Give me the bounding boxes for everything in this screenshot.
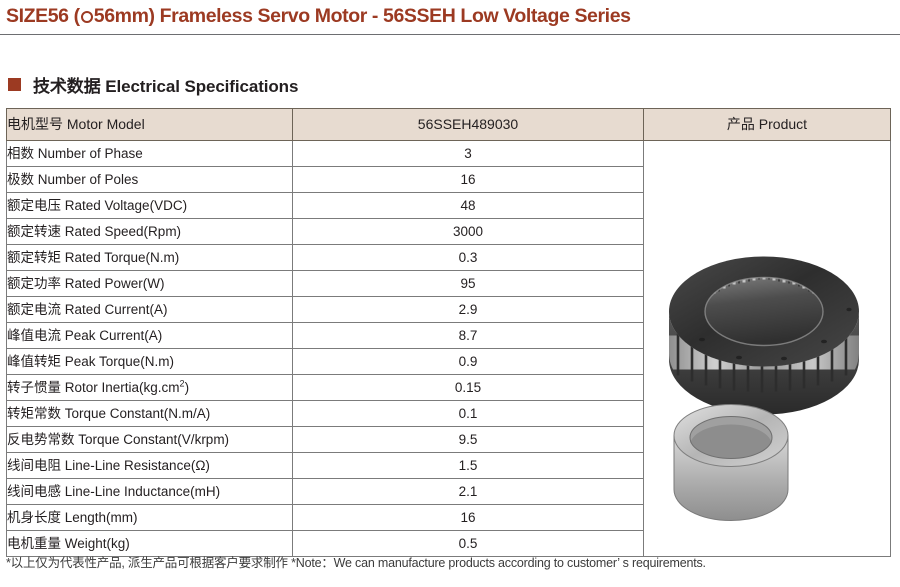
row-label: 相数 Number of Phase — [7, 141, 293, 167]
page-title: SIZE56 (56mm) Frameless Servo Motor - 56… — [6, 5, 631, 28]
section-header: 技术数据 Electrical Specifications — [8, 72, 298, 97]
row-label: 反电势常数 Torque Constant(V/krpm) — [7, 427, 293, 453]
row-value: 0.15 — [293, 375, 644, 401]
square-bullet-icon — [8, 78, 21, 91]
row-value: 8.7 — [293, 323, 644, 349]
row-label: 峰值电流 Peak Current(A) — [7, 323, 293, 349]
section-heading-label: 技术数据 Electrical Specifications — [33, 72, 298, 97]
row-value: 0.1 — [293, 401, 644, 427]
header-model-label: 电机型号 Motor Model — [7, 109, 293, 141]
row-label: 极数 Number of Poles — [7, 167, 293, 193]
page-title-prefix: SIZE56 ( — [6, 5, 80, 27]
title-divider — [0, 34, 900, 35]
row-label: 线间电阻 Line-Line Resistance(Ω) — [7, 453, 293, 479]
row-label-suffix: ) — [185, 380, 190, 395]
row-label: 机身长度 Length(mm) — [7, 505, 293, 531]
footnote: *以上仅为代表性产品, 派生产品可根据客户要求制作 *Note：We can m… — [6, 552, 706, 571]
page-title-suffix: 56mm) Frameless Servo Motor - 56SSEH Low… — [94, 5, 631, 27]
row-label: 额定功率 Rated Power(W) — [7, 271, 293, 297]
row-label: 转矩常数 Torque Constant(N.m/A) — [7, 401, 293, 427]
row-value: 3 — [293, 141, 644, 167]
row-value: 0.3 — [293, 245, 644, 271]
electrical-specifications-table: 电机型号 Motor Model 56SSEH489030 产品 Product… — [6, 108, 891, 557]
row-label: 峰值转矩 Peak Torque(N.m) — [7, 349, 293, 375]
table-row: 相数 Number of Phase 3 — [7, 141, 891, 167]
row-value: 0.9 — [293, 349, 644, 375]
table-header-row: 电机型号 Motor Model 56SSEH489030 产品 Product — [7, 109, 891, 141]
row-label-prefix: 转子惯量 Rotor Inertia(kg.cm — [7, 380, 180, 395]
row-value: 3000 — [293, 219, 644, 245]
motor-illustration — [644, 141, 889, 556]
row-label: 额定电流 Rated Current(A) — [7, 297, 293, 323]
row-value: 16 — [293, 505, 644, 531]
header-product-label: 产品 Product — [644, 109, 891, 141]
circle-diameter-icon — [81, 11, 93, 23]
frameless-servo-motor-photo — [644, 141, 891, 557]
row-label: 额定转速 Rated Speed(Rpm) — [7, 219, 293, 245]
row-value: 2.1 — [293, 479, 644, 505]
row-value: 48 — [293, 193, 644, 219]
row-value: 16 — [293, 167, 644, 193]
header-model-value: 56SSEH489030 — [293, 109, 644, 141]
row-label: 转子惯量 Rotor Inertia(kg.cm2) — [7, 375, 293, 401]
row-value: 1.5 — [293, 453, 644, 479]
row-value: 9.5 — [293, 427, 644, 453]
row-value: 2.9 — [293, 297, 644, 323]
row-value: 95 — [293, 271, 644, 297]
row-label: 额定电压 Rated Voltage(VDC) — [7, 193, 293, 219]
row-label: 线间电感 Line-Line Inductance(mH) — [7, 479, 293, 505]
row-label: 额定转矩 Rated Torque(N.m) — [7, 245, 293, 271]
